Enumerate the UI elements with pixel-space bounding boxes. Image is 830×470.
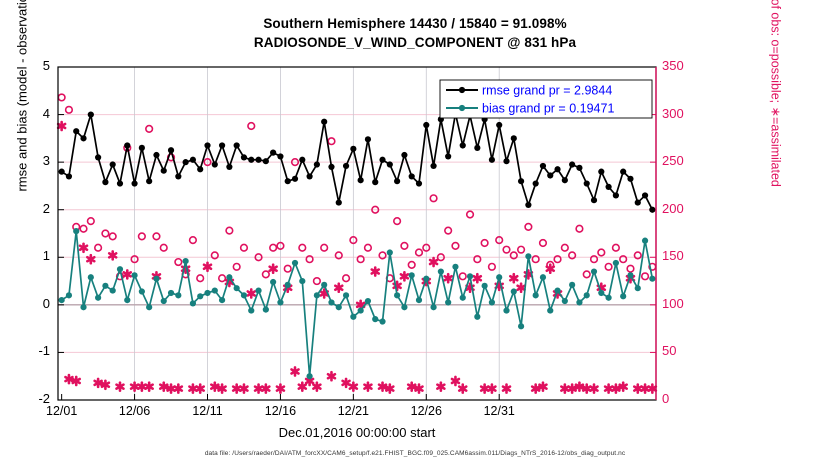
- legend-label-0: rmse grand pr = 2.9844: [482, 84, 612, 98]
- y-tick-right-300: 300: [662, 106, 708, 121]
- y-tick-right-200: 200: [662, 201, 708, 216]
- y-tick-left-3: 3: [10, 153, 50, 168]
- x-tick-12-26: 12/26: [396, 404, 456, 418]
- x-tick-12-31: 12/31: [469, 404, 529, 418]
- x-tick-12-11: 12/11: [178, 404, 238, 418]
- y-tick-right-50: 50: [662, 343, 708, 358]
- x-tick-12-21: 12/21: [323, 404, 383, 418]
- y-tick-right-250: 250: [662, 153, 708, 168]
- y-tick-left-1: 1: [10, 248, 50, 263]
- figure-canvas: Southern Hemisphere 14430 / 15840 = 91.0…: [0, 0, 830, 470]
- y-tick-right-100: 100: [662, 296, 708, 311]
- y-tick-right-350: 350: [662, 58, 708, 73]
- x-tick-12-01: 12/01: [32, 404, 92, 418]
- y-tick-left--1: -1: [10, 343, 50, 358]
- y-tick-left-2: 2: [10, 201, 50, 216]
- x-tick-12-06: 12/06: [105, 404, 165, 418]
- y-tick-left-0: 0: [10, 296, 50, 311]
- x-tick-12-16: 12/16: [250, 404, 310, 418]
- y-tick-left-4: 4: [10, 106, 50, 121]
- legend-label-1: bias grand pr = 0.19471: [482, 102, 614, 116]
- y-tick-left-5: 5: [10, 58, 50, 73]
- legend[interactable]: rmse grand pr = 2.9844bias grand pr = 0.…: [440, 80, 652, 118]
- data-series-layer: [58, 94, 656, 392]
- series-2: [58, 94, 655, 284]
- y-tick-right-0: 0: [662, 391, 708, 406]
- y-tick-right-150: 150: [662, 248, 708, 263]
